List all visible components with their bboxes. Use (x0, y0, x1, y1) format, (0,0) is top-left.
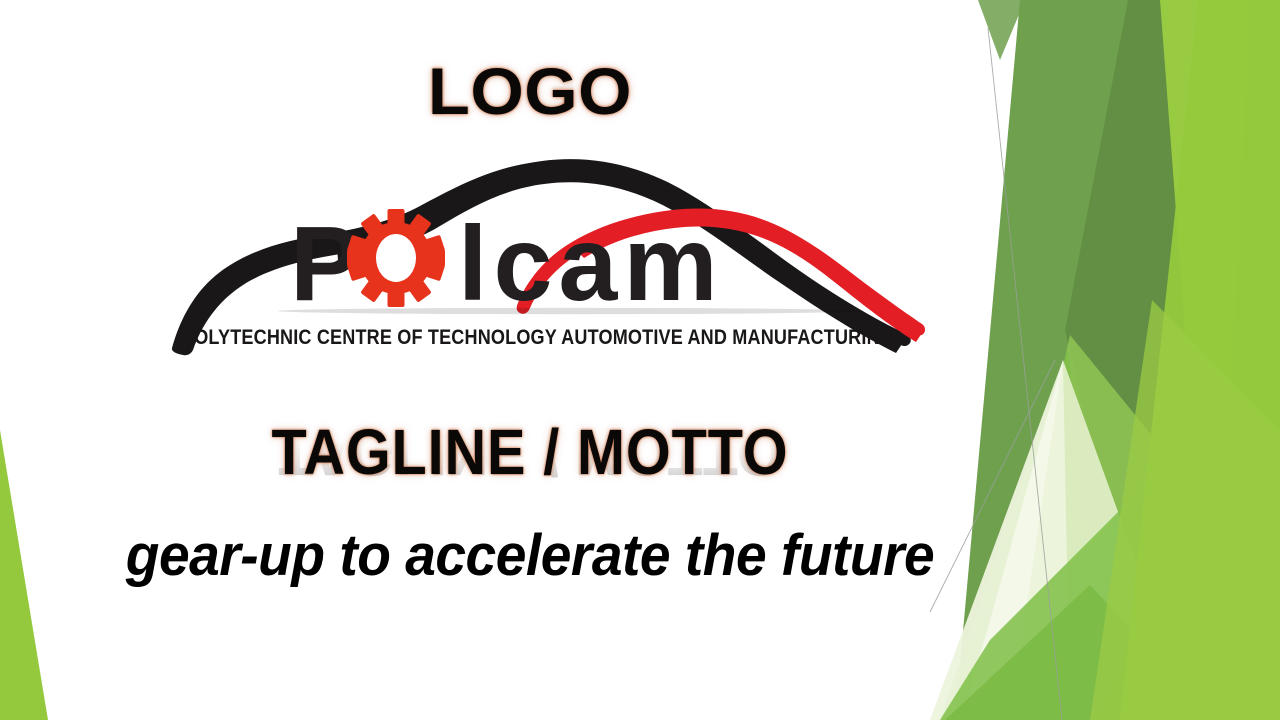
logo-subtitle: POLYTECHNIC CENTRE OF TECHNOLOGY AUTOMOT… (182, 325, 894, 349)
facet-dark-shade (1065, 0, 1185, 560)
facet-right-overlay-2 (1090, 300, 1280, 720)
facet-mid-slab (940, 480, 1210, 720)
tagline-heading: TAGLINE / MOTTO (53, 420, 1007, 484)
hairline-upper (988, 28, 1062, 720)
facet-light-fan-a (985, 335, 1180, 720)
facet-top-sliver (978, 0, 1025, 60)
presentation-slide: LOGO LOGO P (0, 0, 1280, 720)
facet-light-fan-b (940, 350, 1105, 720)
facet-mid-slab-2 (945, 585, 1215, 720)
left-green-wedge (0, 430, 48, 720)
polcam-logo-graphic: P (168, 148, 928, 356)
facet-pale-c (962, 360, 1063, 720)
logo-heading: LOGO (0, 58, 1081, 124)
gear-icon (347, 209, 445, 307)
wordmark-suffix: lcam (458, 205, 724, 323)
facet-pale-a (968, 360, 1150, 720)
facet-right-overlay (1120, 0, 1280, 720)
polcam-logo: P (168, 148, 928, 356)
motto-text: gear-up to accelerate the future (103, 518, 958, 595)
